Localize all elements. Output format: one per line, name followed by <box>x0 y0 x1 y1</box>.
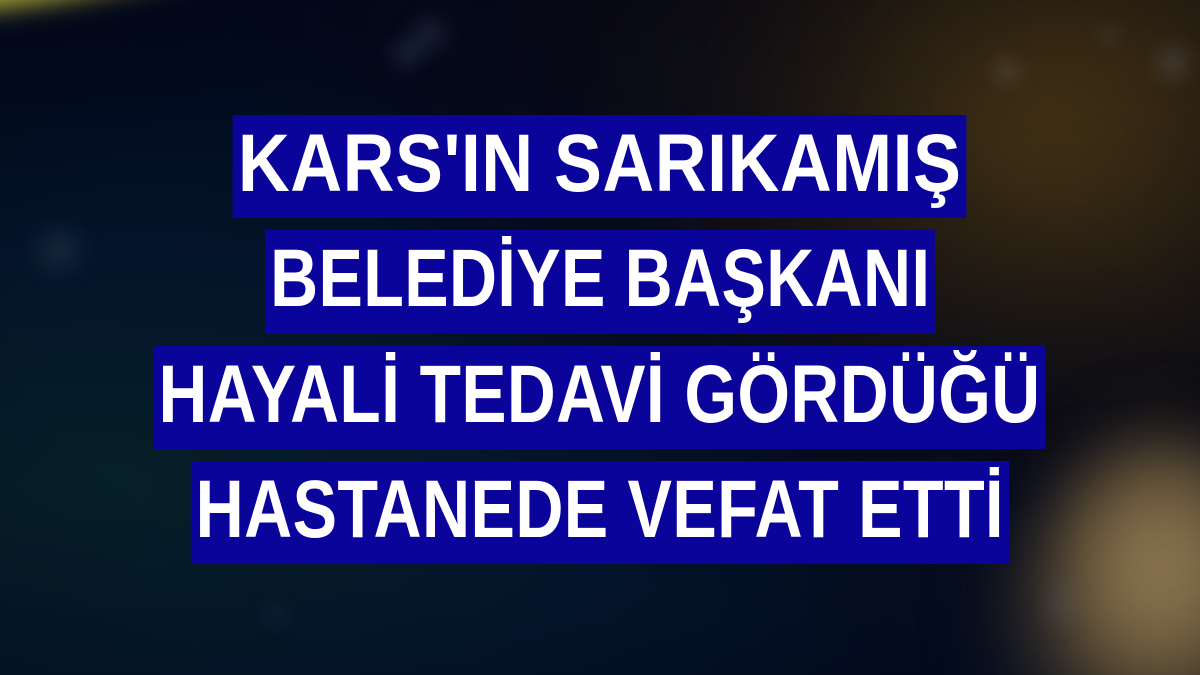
headline-line-1: KARS'IN SARIKAMIŞ <box>233 115 967 218</box>
headline-line-4: HASTANEDE VEFAT ETTİ <box>191 461 1009 564</box>
headline-block: KARS'IN SARIKAMIŞ BELEDİYE BAŞKANI HAYAL… <box>0 0 1200 675</box>
headline-line-2: BELEDİYE BAŞKANI <box>265 230 935 333</box>
headline-line-3: HAYALİ TEDAVİ GÖRDÜĞÜ <box>154 346 1046 449</box>
news-headline-card: KARS'IN SARIKAMIŞ BELEDİYE BAŞKANI HAYAL… <box>0 0 1200 675</box>
